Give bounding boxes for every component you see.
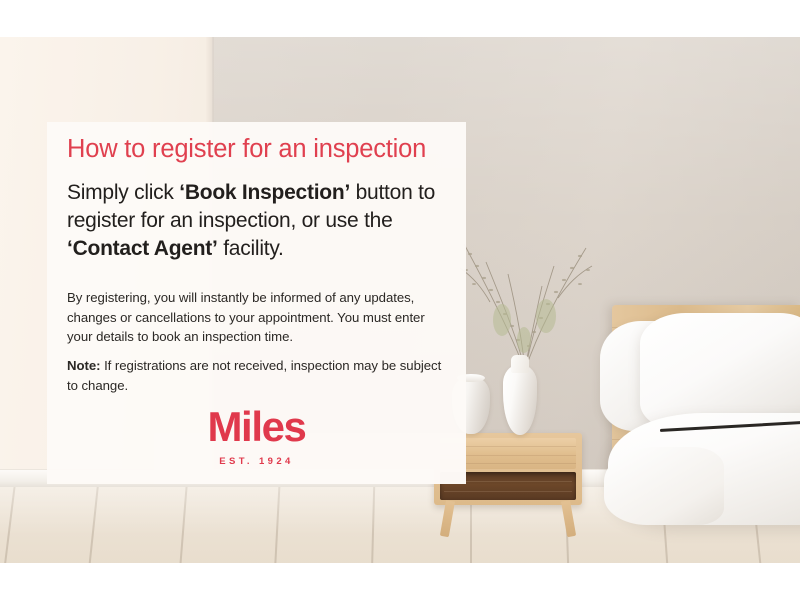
letterbox-bar-top [0, 0, 800, 37]
lede-before: Simply click [67, 181, 179, 204]
body-paragraph-note: Note: If registrations are not received,… [67, 356, 451, 395]
lede-text: Simply click ‘Book Inspection’ button to… [67, 179, 459, 263]
logo-wordmark: Miles [47, 406, 466, 448]
bedroom-scene-image: How to register for an inspection Simply… [0, 37, 800, 563]
note-label: Note: [67, 358, 100, 373]
nightstand-leg [561, 500, 576, 537]
lede-book-inspection: ‘Book Inspection’ [179, 181, 350, 204]
note-text: If registrations are not received, inspe… [67, 358, 441, 393]
duvet-fold [604, 447, 724, 525]
nightstand-leg [440, 500, 455, 537]
page-title: How to register for an inspection [67, 135, 452, 163]
screenshot-stage: How to register for an inspection Simply… [0, 0, 800, 600]
lede-contact-agent: ‘Contact Agent’ [67, 237, 218, 260]
logo-established: EST. 1924 [47, 457, 466, 467]
brand-logo: Miles EST. 1924 [47, 406, 466, 467]
body-paragraph-registering: By registering, you will instantly be in… [67, 288, 451, 347]
info-card: How to register for an inspection Simply… [47, 122, 466, 484]
lede-after: facility. [218, 237, 284, 260]
tall-vase-neck [511, 355, 529, 373]
letterbox-bar-bottom [0, 563, 800, 600]
